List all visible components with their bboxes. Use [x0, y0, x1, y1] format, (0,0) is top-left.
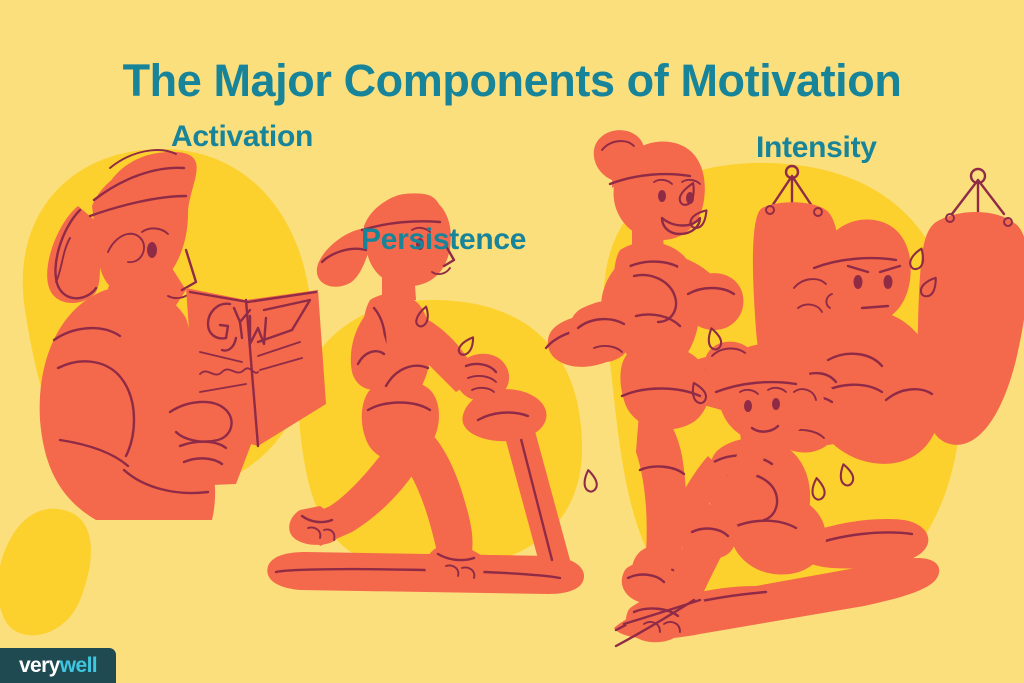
component-label-persistence: Persistence: [361, 223, 526, 257]
brand-wordmark-part-1: very: [19, 654, 60, 677]
component-label-activation: Activation: [171, 120, 313, 154]
text-layer: The Major Components of Motivation Activ…: [0, 0, 1024, 683]
page-title: The Major Components of Motivation: [0, 56, 1024, 106]
brand-wordmark-part-2: well: [60, 654, 97, 677]
brand-wordmark: verywell: [19, 655, 97, 676]
motivation-infographic: .fg { fill: #f4694b; } .blob { fill: #fc…: [0, 0, 1024, 683]
component-label-intensity: Intensity: [756, 131, 877, 165]
verywell-logo[interactable]: verywell: [0, 648, 116, 683]
